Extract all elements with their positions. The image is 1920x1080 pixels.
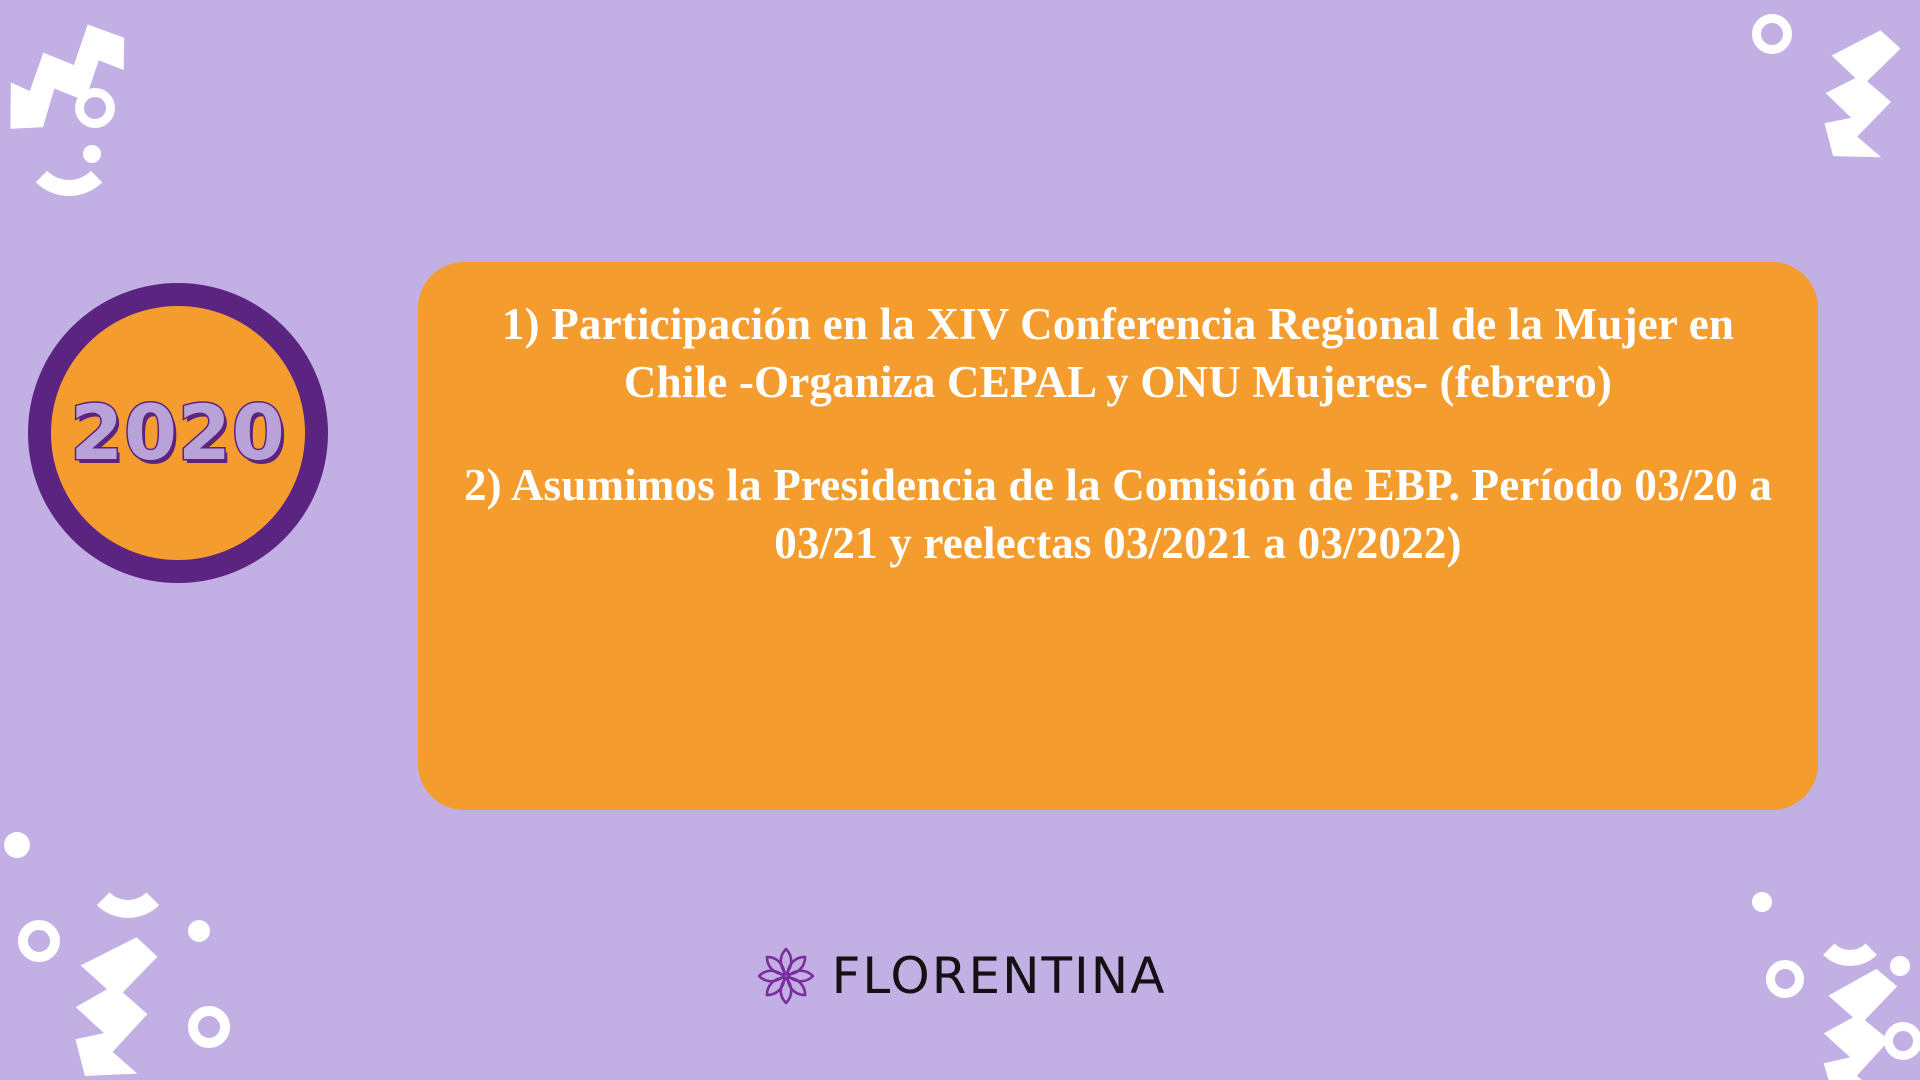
- slide-canvas: 2020 1) Participación en la XIV Conferen…: [0, 0, 1920, 1080]
- dot-shape: [4, 832, 30, 858]
- brand-name: FLORENTINA: [832, 951, 1167, 1001]
- dot-shape: [188, 920, 210, 942]
- year-badge: 2020: [28, 283, 328, 583]
- arc-shape: [84, 852, 172, 918]
- dot-shape: [1752, 892, 1772, 912]
- zigzag-shape: [1770, 20, 1900, 160]
- footer-logo: FLORENTINA: [0, 944, 1920, 1008]
- ring-shape: [188, 1006, 230, 1048]
- ring-shape: [75, 88, 115, 128]
- achievement-item-1: 1) Participación en la XIV Conferencia R…: [452, 296, 1784, 411]
- content-card: 1) Participación en la XIV Conferencia R…: [418, 262, 1818, 810]
- arc-shape: [22, 132, 116, 196]
- flower-icon: [754, 944, 818, 1008]
- achievement-item-2: 2) Asumimos la Presidencia de la Comisió…: [452, 457, 1784, 572]
- ring-shape: [1884, 1022, 1920, 1060]
- year-label: 2020: [70, 395, 286, 471]
- dot-shape: [83, 145, 101, 163]
- zigzag-shape: [6, 18, 126, 138]
- ring-shape: [1752, 14, 1792, 54]
